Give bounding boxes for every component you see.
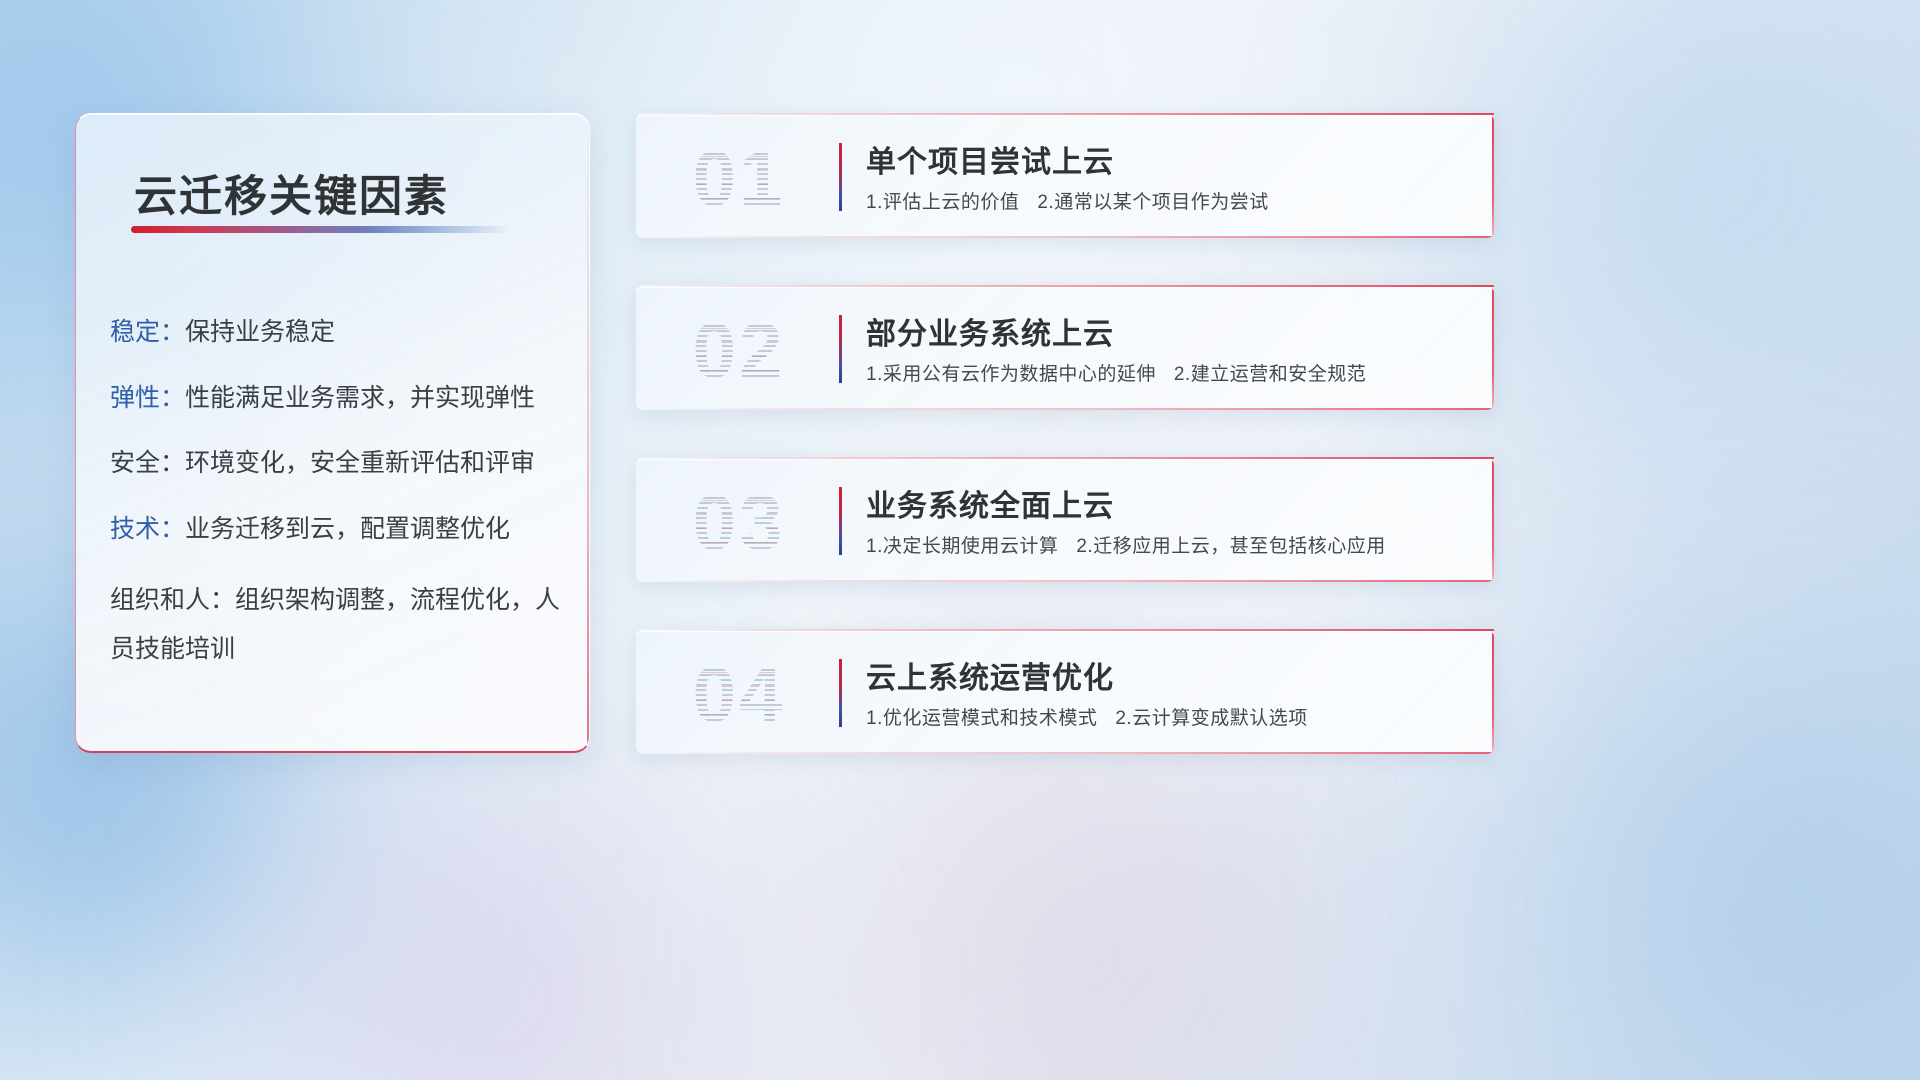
step-item: 2.通常以某个项目作为尝试	[1037, 192, 1268, 213]
step-description: 1.优化运营模式和技术模式2.云计算变成默认选项	[866, 703, 1308, 730]
factor-label: 技术：	[110, 515, 185, 543]
step-description: 1.评估上云的价值2.通常以某个项目作为尝试	[866, 187, 1269, 214]
step-item: 2.云计算变成默认选项	[1115, 708, 1307, 729]
step-description: 1.决定长期使用云计算2.迁移应用上云，甚至包括核心应用	[866, 531, 1386, 558]
step-number-overlay: 04	[664, 644, 814, 744]
factor-label: 安全：	[110, 449, 185, 477]
title-underline	[131, 226, 511, 233]
step-card-01[interactable]: 01 01 单个项目尝试上云 1.评估上云的价值2.通常以某个项目作为尝试	[636, 113, 1494, 238]
step-card-04[interactable]: 04 04 云上系统运营优化 1.优化运营模式和技术模式2.云计算变成默认选项	[636, 629, 1494, 754]
step-number-overlay: 03	[664, 472, 814, 572]
factor-text: 环境变化，安全重新评估和评审	[185, 449, 535, 477]
step-title: 业务系统全面上云	[866, 481, 1114, 525]
step-number-overlay: 02	[664, 300, 814, 400]
step-title: 部分业务系统上云	[866, 309, 1114, 353]
step-item: 1.决定长期使用云计算	[866, 536, 1058, 557]
list-item: 安全：环境变化，安全重新评估和评审	[110, 445, 580, 483]
step-number-overlay: 01	[664, 128, 814, 228]
factor-text: 业务迁移到云，配置调整优化	[185, 515, 510, 543]
factor-label: 弹性：	[110, 384, 185, 412]
step-title: 云上系统运营优化	[866, 653, 1114, 697]
list-item: 弹性：性能满足业务需求，并实现弹性	[110, 380, 580, 418]
page-title: 云迁移关键因素	[134, 162, 449, 224]
step-divider	[839, 487, 842, 555]
factor-list: 稳定：保持业务稳定 弹性：性能满足业务需求，并实现弹性 安全：环境变化，安全重新…	[110, 314, 580, 702]
step-title: 单个项目尝试上云	[866, 137, 1114, 181]
factor-text: 保持业务稳定	[185, 318, 335, 346]
step-item: 1.优化运营模式和技术模式	[866, 708, 1097, 729]
list-item: 技术：业务迁移到云，配置调整优化	[110, 511, 580, 549]
step-card-03[interactable]: 03 03 业务系统全面上云 1.决定长期使用云计算2.迁移应用上云，甚至包括核…	[636, 457, 1494, 582]
step-card-02[interactable]: 02 02 部分业务系统上云 1.采用公有云作为数据中心的延伸2.建立运营和安全…	[636, 285, 1494, 410]
step-item: 2.迁移应用上云，甚至包括核心应用	[1076, 536, 1385, 557]
factor-label: 组织和人：	[110, 586, 235, 614]
step-item: 1.评估上云的价值	[866, 192, 1019, 213]
list-item: 稳定：保持业务稳定	[110, 314, 580, 352]
step-item: 2.建立运营和安全规范	[1174, 364, 1366, 385]
step-divider	[839, 659, 842, 727]
step-description: 1.采用公有云作为数据中心的延伸2.建立运营和安全规范	[866, 359, 1366, 386]
factor-text: 性能满足业务需求，并实现弹性	[185, 384, 535, 412]
step-divider	[839, 143, 842, 211]
factor-label: 稳定：	[110, 318, 185, 346]
step-item: 1.采用公有云作为数据中心的延伸	[866, 364, 1156, 385]
list-item: 组织和人：组织架构调整，流程优化，人员技能培训	[110, 576, 580, 674]
key-factors-panel: 云迁移关键因素 稳定：保持业务稳定 弹性：性能满足业务需求，并实现弹性 安全：环…	[75, 113, 590, 753]
step-divider	[839, 315, 842, 383]
